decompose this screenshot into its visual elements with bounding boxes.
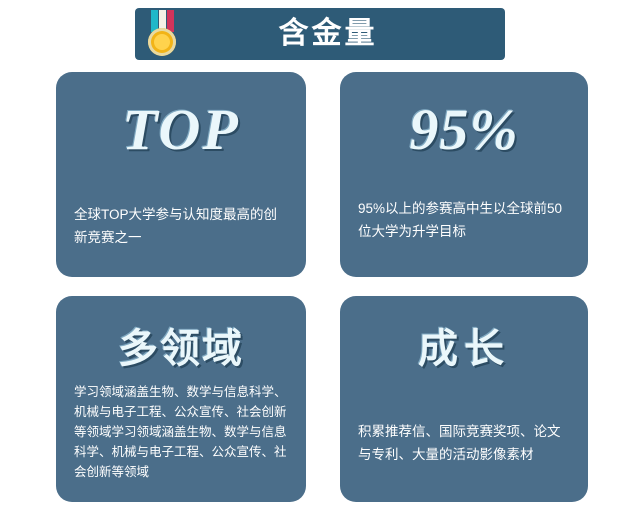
medal-disc-inner	[154, 34, 170, 50]
card-title: 多领域	[74, 328, 288, 370]
poster-root: 含金量 TOP 全球TOP大学参与认知度最高的创新竞赛之一 95% 95%以上的…	[0, 0, 640, 516]
card-body: 学习领域涵盖生物、数学与信息科学、机械与电子工程、公众宣传、社会创新等领域学习领…	[74, 382, 288, 482]
header-banner: 含金量	[135, 8, 505, 60]
card-growth: 成长 积累推荐信、国际竞赛奖项、论文与专利、大量的活动影像素材	[340, 296, 588, 502]
card-title: TOP	[74, 100, 288, 161]
card-percent: 95% 95%以上的参赛高中生以全球前50位大学为升学目标	[340, 72, 588, 277]
card-title: 成长	[358, 328, 570, 370]
medal-icon	[135, 8, 191, 60]
page-title: 含金量	[191, 19, 505, 49]
card-title: 95%	[358, 100, 570, 161]
card-body: 全球TOP大学参与认知度最高的创新竞赛之一	[74, 204, 288, 249]
card-multi-field: 多领域 学习领域涵盖生物、数学与信息科学、机械与电子工程、公众宣传、社会创新等领…	[56, 296, 306, 502]
card-body: 积累推荐信、国际竞赛奖项、论文与专利、大量的活动影像素材	[358, 421, 570, 466]
card-top: TOP 全球TOP大学参与认知度最高的创新竞赛之一	[56, 72, 306, 277]
card-body: 95%以上的参赛高中生以全球前50位大学为升学目标	[358, 198, 570, 243]
